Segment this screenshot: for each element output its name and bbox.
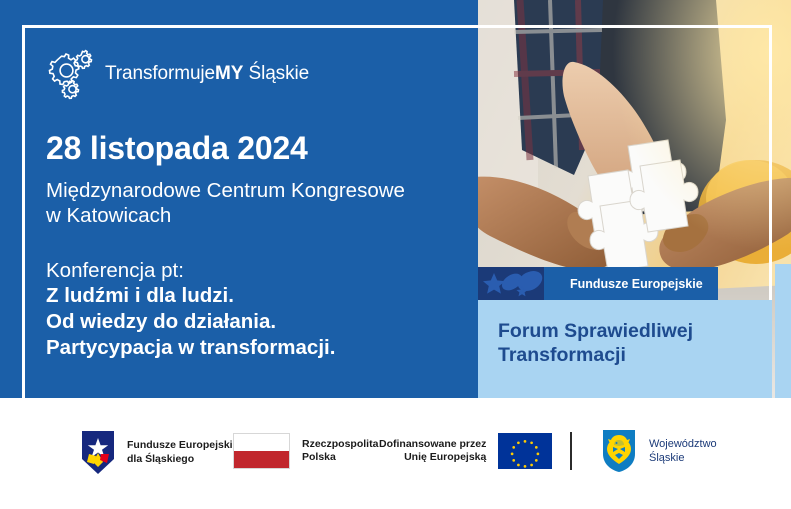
forum-title: Forum Sprawiedliwej Transformacji — [498, 319, 693, 367]
fundusze-europejskie-badge-label: Fundusze Europejskie — [570, 277, 703, 291]
fundusze-europejskie-star-mark — [478, 267, 544, 300]
right-accent-strip — [775, 264, 791, 398]
footer-logo-fundusze-line2: dla Śląskiego — [127, 453, 238, 467]
event-venue: Międzynarodowe Centrum Kongresowe w Kato… — [46, 178, 405, 228]
forum-title-panel: Forum Sprawiedliwej Transformacji — [478, 300, 772, 398]
fundusze-europejskie-badge: Fundusze Europejskie — [478, 267, 718, 300]
footer-logo-eu: Dofinansowane przez Unię Europejską — [379, 433, 552, 469]
footer-logo-poland-label: Rzeczpospolita Polska — [302, 438, 378, 465]
event-venue-line2: w Katowicach — [46, 203, 405, 228]
logo-wordmark-part2: Śląskie — [243, 63, 309, 84]
logo-wordmark-part1: Transformuje — [105, 63, 215, 84]
silesian-eagle-shield-icon — [601, 428, 637, 474]
footer-logo-poland-line2: Polska — [302, 451, 378, 465]
footer-logo-eu-line2: Unię Europejską — [379, 451, 486, 465]
footer-logo-voivodeship: Województwo Śląskie — [601, 428, 717, 474]
footer-logo-fundusze-europejskie: Fundusze Europejskie dla Śląskiego — [79, 429, 238, 476]
event-date: 28 listopada 2024 — [46, 130, 308, 167]
footer-logo-fundusze-label: Fundusze Europejskie dla Śląskiego — [127, 439, 238, 466]
poland-flag-red-band — [234, 451, 289, 468]
footer-divider — [570, 432, 572, 470]
poland-flag-icon — [233, 433, 290, 469]
conference-label: Konferencja pt: — [46, 258, 184, 283]
conference-title-line1: Z ludźmi i dla ludzi. — [46, 283, 335, 309]
fundusze-europejskie-logo — [79, 429, 117, 476]
conference-title-line2: Od wiedzy do działania. — [46, 309, 335, 335]
footer-logo-voivodeship-label: Województwo Śląskie — [649, 437, 717, 465]
footer-logo-eu-line1: Dofinansowane przez — [379, 438, 486, 452]
logo-wordmark-bold: MY — [215, 63, 243, 84]
forum-title-line1: Forum Sprawiedliwej — [498, 319, 693, 343]
conference-title-line3: Partycypacja w transformacji. — [46, 335, 335, 361]
transformujemy-slaskie-logo: TransformujeMY Śląskie — [42, 48, 309, 100]
eu-flag-icon — [498, 433, 552, 469]
conference-title: Z ludźmi i dla ludzi. Od wiedzy do dział… — [46, 283, 335, 361]
footer-logo-voivodeship-line1: Województwo — [649, 437, 717, 451]
footer-logo-poland: Rzeczpospolita Polska — [233, 433, 378, 469]
gears-icon — [42, 48, 96, 100]
event-venue-line1: Międzynarodowe Centrum Kongresowe — [46, 178, 405, 203]
footer-logo-poland-line1: Rzeczpospolita — [302, 438, 378, 452]
footer-logo-voivodeship-line2: Śląskie — [649, 451, 717, 465]
poster-banner: TransformujeMY Śląskie 28 listopada 2024… — [0, 0, 791, 398]
conference-poster: TransformujeMY Śląskie 28 listopada 2024… — [0, 0, 791, 509]
footer-logo-eu-label: Dofinansowane przez Unię Europejską — [379, 438, 486, 465]
forum-title-line2: Transformacji — [498, 343, 693, 367]
footer-logo-fundusze-line1: Fundusze Europejskie — [127, 439, 238, 453]
logo-wordmark: TransformujeMY Śląskie — [105, 63, 309, 85]
poland-flag-white-band — [234, 434, 289, 451]
